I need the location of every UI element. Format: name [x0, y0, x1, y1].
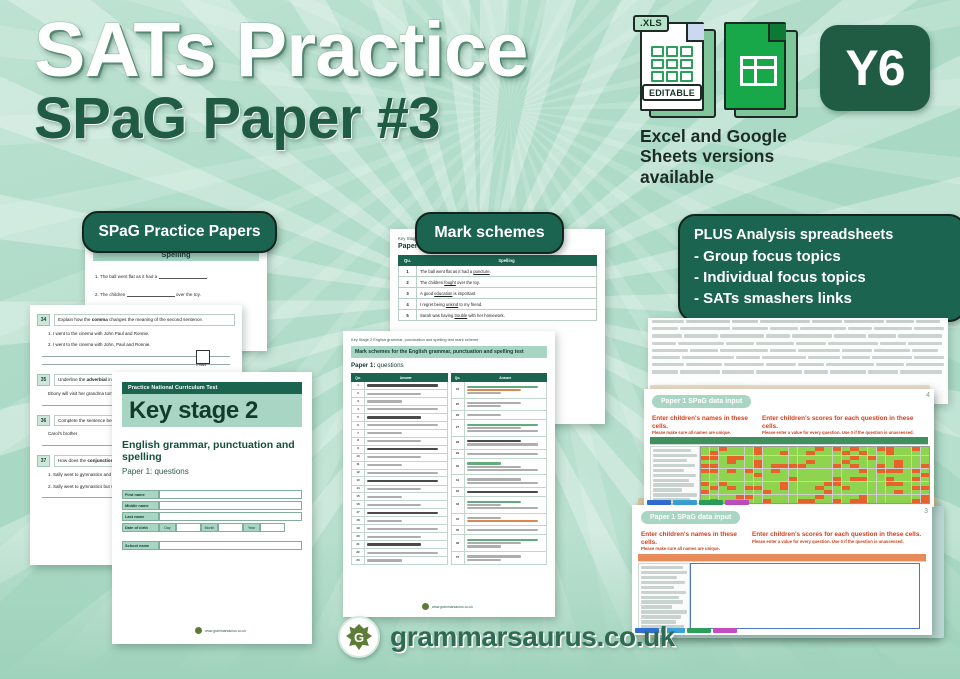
- score-cell[interactable]: [806, 469, 814, 473]
- score-cell[interactable]: [719, 482, 727, 486]
- score-cell[interactable]: [798, 473, 806, 477]
- score-cell[interactable]: [894, 477, 902, 481]
- score-cell[interactable]: [903, 456, 911, 460]
- score-cell[interactable]: [763, 447, 771, 451]
- score-cell[interactable]: [842, 469, 850, 473]
- score-cell[interactable]: [903, 499, 911, 503]
- score-cell[interactable]: [745, 447, 753, 451]
- score-cell[interactable]: [903, 447, 911, 451]
- score-cell[interactable]: [824, 460, 832, 464]
- score-cell[interactable]: [868, 486, 876, 490]
- score-cell[interactable]: [921, 482, 929, 486]
- score-cell[interactable]: [719, 495, 727, 499]
- score-cell[interactable]: [710, 447, 718, 451]
- score-cell[interactable]: [886, 490, 894, 494]
- score-cell[interactable]: [868, 499, 876, 503]
- score-cell[interactable]: [727, 464, 735, 468]
- score-cell[interactable]: [850, 473, 858, 477]
- score-cell[interactable]: [815, 473, 823, 477]
- answer-blank[interactable]: [159, 273, 207, 279]
- score-cell[interactable]: [710, 456, 718, 460]
- score-cell[interactable]: [912, 495, 920, 499]
- score-cell[interactable]: [886, 460, 894, 464]
- score-cell[interactable]: [903, 482, 911, 486]
- score-cell[interactable]: [719, 464, 727, 468]
- score-cell[interactable]: [912, 473, 920, 477]
- score-cell[interactable]: [710, 486, 718, 490]
- score-cell[interactable]: [833, 460, 841, 464]
- score-cell[interactable]: [806, 451, 814, 455]
- score-cell[interactable]: [701, 495, 709, 499]
- score-cell[interactable]: [859, 473, 867, 477]
- score-cell[interactable]: [798, 499, 806, 503]
- score-cell[interactable]: [859, 469, 867, 473]
- score-cell[interactable]: [850, 499, 858, 503]
- score-cell[interactable]: [921, 473, 929, 477]
- score-cell[interactable]: [921, 464, 929, 468]
- score-cell[interactable]: [745, 477, 753, 481]
- score-cell[interactable]: [877, 473, 885, 477]
- score-cell[interactable]: [842, 477, 850, 481]
- score-cell[interactable]: [763, 473, 771, 477]
- score-cell[interactable]: [745, 486, 753, 490]
- score-cell[interactable]: [719, 447, 727, 451]
- score-cell[interactable]: [745, 495, 753, 499]
- score-cell[interactable]: [798, 464, 806, 468]
- score-cell[interactable]: [806, 447, 814, 451]
- score-cell[interactable]: [921, 447, 929, 451]
- analysis-sheet-empty[interactable]: 3 Paper 1 SPaG data input Enter children…: [632, 505, 932, 635]
- score-cell[interactable]: [877, 464, 885, 468]
- score-cell[interactable]: [780, 456, 788, 460]
- score-cell[interactable]: [710, 460, 718, 464]
- score-cell[interactable]: [710, 477, 718, 481]
- score-cell[interactable]: [727, 473, 735, 477]
- score-cell[interactable]: [789, 477, 797, 481]
- score-cell[interactable]: [877, 482, 885, 486]
- score-cell[interactable]: [798, 456, 806, 460]
- score-cell[interactable]: [719, 486, 727, 490]
- score-cell[interactable]: [789, 447, 797, 451]
- score-cell[interactable]: [771, 469, 779, 473]
- score-cell[interactable]: [771, 456, 779, 460]
- score-cell[interactable]: [886, 482, 894, 486]
- score-cell[interactable]: [859, 482, 867, 486]
- score-cell[interactable]: [912, 451, 920, 455]
- score-cell[interactable]: [771, 490, 779, 494]
- score-cell[interactable]: [701, 456, 709, 460]
- score-cell[interactable]: [833, 447, 841, 451]
- score-cell[interactable]: [842, 490, 850, 494]
- score-cell[interactable]: [789, 464, 797, 468]
- score-cell[interactable]: [859, 490, 867, 494]
- score-cell[interactable]: [798, 447, 806, 451]
- score-cell[interactable]: [754, 482, 762, 486]
- score-cell[interactable]: [824, 477, 832, 481]
- score-cell[interactable]: [850, 451, 858, 455]
- score-cell[interactable]: [745, 490, 753, 494]
- score-cell[interactable]: [763, 469, 771, 473]
- score-cell[interactable]: [789, 456, 797, 460]
- score-cell[interactable]: [833, 490, 841, 494]
- score-cell[interactable]: [780, 486, 788, 490]
- score-cell[interactable]: [842, 451, 850, 455]
- score-cell[interactable]: [798, 495, 806, 499]
- analysis-sheet-filled[interactable]: 4 Paper 1 SPaG data input Enter children…: [644, 389, 934, 507]
- score-cell[interactable]: [859, 460, 867, 464]
- score-cell[interactable]: [912, 456, 920, 460]
- score-cell[interactable]: [780, 499, 788, 503]
- score-cell[interactable]: [921, 495, 929, 499]
- score-cell[interactable]: [754, 490, 762, 494]
- score-cell[interactable]: [894, 499, 902, 503]
- score-cell[interactable]: [806, 486, 814, 490]
- score-cell[interactable]: [780, 460, 788, 464]
- score-cell[interactable]: [771, 447, 779, 451]
- score-cell[interactable]: [842, 447, 850, 451]
- score-cell[interactable]: [763, 499, 771, 503]
- score-cell[interactable]: [877, 469, 885, 473]
- field-input[interactable]: [159, 541, 302, 550]
- score-cell[interactable]: [886, 473, 894, 477]
- score-cell[interactable]: [736, 460, 744, 464]
- score-cell[interactable]: [815, 495, 823, 499]
- score-cell[interactable]: [789, 473, 797, 477]
- score-cell[interactable]: [868, 490, 876, 494]
- score-cell[interactable]: [745, 464, 753, 468]
- score-cell[interactable]: [868, 460, 876, 464]
- score-cell[interactable]: [780, 473, 788, 477]
- score-cell[interactable]: [921, 451, 929, 455]
- score-cell[interactable]: [894, 460, 902, 464]
- score-cell[interactable]: [754, 477, 762, 481]
- score-cell[interactable]: [903, 460, 911, 464]
- score-cell[interactable]: [719, 473, 727, 477]
- score-cell[interactable]: [912, 477, 920, 481]
- score-cell[interactable]: [771, 473, 779, 477]
- score-cell[interactable]: [754, 447, 762, 451]
- score-cell[interactable]: [850, 447, 858, 451]
- score-cell[interactable]: [850, 490, 858, 494]
- score-cell[interactable]: [877, 447, 885, 451]
- score-cell[interactable]: [842, 473, 850, 477]
- score-cell[interactable]: [780, 464, 788, 468]
- score-cell[interactable]: [701, 482, 709, 486]
- score-cell[interactable]: [701, 451, 709, 455]
- score-cell[interactable]: [745, 482, 753, 486]
- score-cell[interactable]: [824, 456, 832, 460]
- score-cell[interactable]: [877, 456, 885, 460]
- score-cell[interactable]: [710, 473, 718, 477]
- score-cell[interactable]: [719, 477, 727, 481]
- score-cell[interactable]: [912, 464, 920, 468]
- score-cell[interactable]: [754, 499, 762, 503]
- score-cell[interactable]: [710, 464, 718, 468]
- sheet-toolbar[interactable]: [638, 554, 926, 562]
- score-heatmap-grid[interactable]: [700, 446, 930, 504]
- score-cell[interactable]: [806, 490, 814, 494]
- score-cell[interactable]: [727, 456, 735, 460]
- year-input[interactable]: [260, 523, 285, 532]
- score-cell[interactable]: [763, 451, 771, 455]
- score-cell[interactable]: [727, 495, 735, 499]
- score-cell[interactable]: [894, 490, 902, 494]
- score-cell[interactable]: [877, 495, 885, 499]
- score-cell[interactable]: [921, 490, 929, 494]
- score-cell[interactable]: [903, 490, 911, 494]
- score-cell[interactable]: [701, 469, 709, 473]
- score-cell[interactable]: [763, 456, 771, 460]
- score-cell[interactable]: [780, 447, 788, 451]
- score-cell[interactable]: [886, 495, 894, 499]
- score-cell[interactable]: [903, 473, 911, 477]
- score-cell[interactable]: [798, 460, 806, 464]
- score-cell[interactable]: [877, 499, 885, 503]
- form-row[interactable]: Last name: [122, 512, 302, 521]
- score-cell[interactable]: [859, 495, 867, 499]
- score-cell[interactable]: [894, 451, 902, 455]
- score-cell[interactable]: [815, 482, 823, 486]
- score-cell[interactable]: [824, 469, 832, 473]
- score-cell[interactable]: [789, 460, 797, 464]
- score-cell[interactable]: [736, 464, 744, 468]
- score-cell[interactable]: [771, 451, 779, 455]
- score-cell[interactable]: [806, 477, 814, 481]
- score-cell[interactable]: [877, 486, 885, 490]
- score-cell[interactable]: [859, 486, 867, 490]
- score-cell[interactable]: [736, 473, 744, 477]
- score-cell[interactable]: [886, 451, 894, 455]
- score-cell[interactable]: [710, 482, 718, 486]
- score-cell[interactable]: [824, 499, 832, 503]
- score-cell[interactable]: [701, 490, 709, 494]
- score-cell[interactable]: [842, 456, 850, 460]
- score-cell[interactable]: [736, 490, 744, 494]
- score-cell[interactable]: [886, 456, 894, 460]
- score-cell[interactable]: [824, 447, 832, 451]
- score-cell[interactable]: [921, 477, 929, 481]
- score-cell[interactable]: [771, 482, 779, 486]
- brand-footer[interactable]: G grammarsaurus.co.uk: [338, 616, 675, 658]
- score-cell[interactable]: [798, 451, 806, 455]
- score-cell[interactable]: [877, 490, 885, 494]
- candidate-details-form[interactable]: First nameMiddle nameLast nameDate of bi…: [112, 490, 312, 550]
- score-cell[interactable]: [719, 456, 727, 460]
- field-input[interactable]: [159, 490, 302, 499]
- score-cell[interactable]: [850, 469, 858, 473]
- score-cell[interactable]: [912, 460, 920, 464]
- score-cell[interactable]: [894, 482, 902, 486]
- score-cell[interactable]: [850, 482, 858, 486]
- score-cell[interactable]: [824, 482, 832, 486]
- score-cell[interactable]: [833, 482, 841, 486]
- score-cell[interactable]: [815, 451, 823, 455]
- score-cell[interactable]: [921, 486, 929, 490]
- score-cell[interactable]: [815, 456, 823, 460]
- score-cell[interactable]: [763, 490, 771, 494]
- form-row[interactable]: Middle name: [122, 501, 302, 510]
- field-input[interactable]: [159, 512, 302, 521]
- score-cell[interactable]: [842, 499, 850, 503]
- score-cell[interactable]: [754, 464, 762, 468]
- score-cell[interactable]: [868, 456, 876, 460]
- score-cell[interactable]: [806, 473, 814, 477]
- score-cell[interactable]: [798, 477, 806, 481]
- score-cell[interactable]: [815, 447, 823, 451]
- score-cell[interactable]: [763, 486, 771, 490]
- score-cell[interactable]: [789, 495, 797, 499]
- empty-score-grid[interactable]: [690, 563, 920, 629]
- score-cell[interactable]: [763, 464, 771, 468]
- score-cell[interactable]: [719, 460, 727, 464]
- score-cell[interactable]: [771, 495, 779, 499]
- score-cell[interactable]: [912, 499, 920, 503]
- score-cell[interactable]: [763, 477, 771, 481]
- score-cell[interactable]: [850, 460, 858, 464]
- score-cell[interactable]: [754, 460, 762, 464]
- score-cell[interactable]: [771, 499, 779, 503]
- score-cell[interactable]: [903, 486, 911, 490]
- score-cell[interactable]: [789, 451, 797, 455]
- score-cell[interactable]: [868, 477, 876, 481]
- score-cell[interactable]: [771, 477, 779, 481]
- score-cell[interactable]: [886, 499, 894, 503]
- score-cell[interactable]: [859, 447, 867, 451]
- score-cell[interactable]: [877, 460, 885, 464]
- score-cell[interactable]: [710, 451, 718, 455]
- score-cell[interactable]: [798, 482, 806, 486]
- score-cell[interactable]: [824, 486, 832, 490]
- score-cell[interactable]: [754, 473, 762, 477]
- score-cell[interactable]: [701, 464, 709, 468]
- score-cell[interactable]: [798, 490, 806, 494]
- score-cell[interactable]: [780, 490, 788, 494]
- score-cell[interactable]: [868, 469, 876, 473]
- score-cell[interactable]: [727, 482, 735, 486]
- score-cell[interactable]: [806, 460, 814, 464]
- score-cell[interactable]: [727, 451, 735, 455]
- score-cell[interactable]: [921, 499, 929, 503]
- score-cell[interactable]: [727, 447, 735, 451]
- score-cell[interactable]: [903, 477, 911, 481]
- score-cell[interactable]: [850, 456, 858, 460]
- score-cell[interactable]: [912, 447, 920, 451]
- mark-scheme-questions-paper[interactable]: Key Stage 2 English grammar, punctuation…: [343, 331, 555, 617]
- score-cell[interactable]: [903, 469, 911, 473]
- score-cell[interactable]: [833, 473, 841, 477]
- score-cell[interactable]: [789, 486, 797, 490]
- dob-row[interactable]: Date of birthDayMonthYear: [122, 523, 302, 532]
- score-cell[interactable]: [842, 486, 850, 490]
- score-cell[interactable]: [727, 486, 735, 490]
- school-row[interactable]: School name: [122, 541, 302, 550]
- score-cell[interactable]: [789, 499, 797, 503]
- score-cell[interactable]: [842, 495, 850, 499]
- score-cell[interactable]: [877, 451, 885, 455]
- score-cell[interactable]: [824, 451, 832, 455]
- score-cell[interactable]: [868, 482, 876, 486]
- score-cell[interactable]: [727, 477, 735, 481]
- score-cell[interactable]: [780, 469, 788, 473]
- score-cell[interactable]: [798, 469, 806, 473]
- score-cell[interactable]: [912, 469, 920, 473]
- score-cell[interactable]: [824, 490, 832, 494]
- score-cell[interactable]: [833, 451, 841, 455]
- score-cell[interactable]: [833, 499, 841, 503]
- score-cell[interactable]: [736, 482, 744, 486]
- score-cell[interactable]: [815, 460, 823, 464]
- score-cell[interactable]: [763, 482, 771, 486]
- score-cell[interactable]: [842, 482, 850, 486]
- score-cell[interactable]: [736, 477, 744, 481]
- score-cell[interactable]: [894, 469, 902, 473]
- score-cell[interactable]: [850, 477, 858, 481]
- score-cell[interactable]: [842, 460, 850, 464]
- score-cell[interactable]: [806, 499, 814, 503]
- score-cell[interactable]: [736, 486, 744, 490]
- score-cell[interactable]: [833, 469, 841, 473]
- score-cell[interactable]: [736, 451, 744, 455]
- score-cell[interactable]: [824, 495, 832, 499]
- ks2-test-cover[interactable]: Practice National Curriculum Test Key st…: [112, 372, 312, 644]
- score-cell[interactable]: [894, 447, 902, 451]
- score-cell[interactable]: [763, 460, 771, 464]
- score-cell[interactable]: [798, 486, 806, 490]
- score-cell[interactable]: [815, 486, 823, 490]
- score-cell[interactable]: [745, 451, 753, 455]
- score-cell[interactable]: [789, 482, 797, 486]
- score-cell[interactable]: [701, 486, 709, 490]
- score-cell[interactable]: [859, 477, 867, 481]
- score-cell[interactable]: [815, 477, 823, 481]
- score-cell[interactable]: [859, 456, 867, 460]
- score-cell[interactable]: [727, 469, 735, 473]
- score-cell[interactable]: [868, 447, 876, 451]
- score-cell[interactable]: [833, 477, 841, 481]
- score-cell[interactable]: [815, 490, 823, 494]
- score-cell[interactable]: [719, 469, 727, 473]
- score-cell[interactable]: [859, 499, 867, 503]
- score-cell[interactable]: [886, 447, 894, 451]
- score-cell[interactable]: [745, 460, 753, 464]
- score-cell[interactable]: [719, 490, 727, 494]
- score-cell[interactable]: [868, 451, 876, 455]
- score-cell[interactable]: [921, 456, 929, 460]
- field-input[interactable]: [159, 501, 302, 510]
- score-cell[interactable]: [710, 495, 718, 499]
- score-cell[interactable]: [806, 464, 814, 468]
- score-cell[interactable]: [859, 464, 867, 468]
- score-cell[interactable]: [780, 477, 788, 481]
- score-cell[interactable]: [789, 490, 797, 494]
- score-cell[interactable]: [736, 495, 744, 499]
- score-cell[interactable]: [745, 456, 753, 460]
- score-cell[interactable]: [815, 469, 823, 473]
- score-cell[interactable]: [701, 447, 709, 451]
- score-cell[interactable]: [894, 464, 902, 468]
- score-cell[interactable]: [736, 469, 744, 473]
- month-input[interactable]: [218, 523, 243, 532]
- score-cell[interactable]: [850, 495, 858, 499]
- score-cell[interactable]: [780, 451, 788, 455]
- score-cell[interactable]: [806, 482, 814, 486]
- score-cell[interactable]: [736, 456, 744, 460]
- score-cell[interactable]: [877, 477, 885, 481]
- score-cell[interactable]: [859, 451, 867, 455]
- score-cell[interactable]: [824, 464, 832, 468]
- score-cell[interactable]: [736, 447, 744, 451]
- score-cell[interactable]: [842, 464, 850, 468]
